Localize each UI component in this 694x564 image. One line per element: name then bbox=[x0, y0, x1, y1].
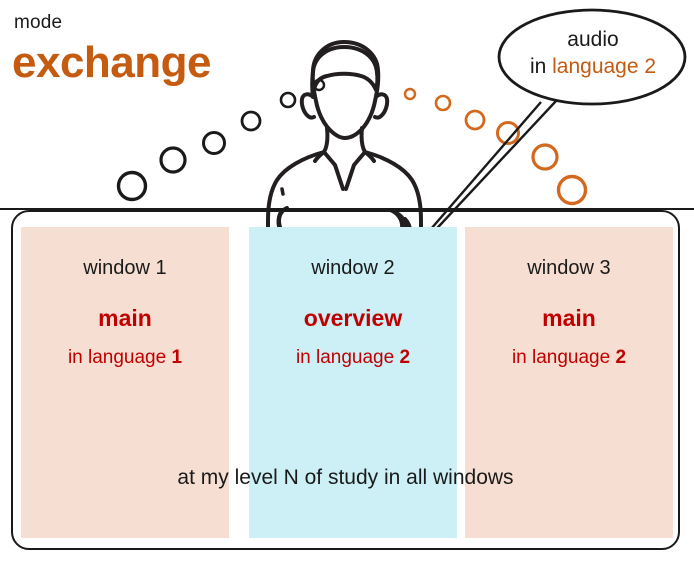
bubble-line-1: audio bbox=[503, 26, 683, 53]
window-3-language-number: 2 bbox=[615, 347, 626, 368]
black-circle-trail bbox=[119, 80, 325, 200]
window-2-language: in language 2 bbox=[249, 347, 457, 369]
diagram-canvas: mode exchange bbox=[0, 0, 694, 564]
window-panel-1[interactable]: window 1 main in language 1 bbox=[21, 227, 229, 538]
mode-label: mode bbox=[14, 12, 62, 34]
mode-value: exchange bbox=[12, 38, 211, 88]
window-2-language-prefix: in language bbox=[296, 347, 400, 368]
window-panel-3[interactable]: window 3 main in language 2 bbox=[465, 227, 673, 538]
window-1-language: in language 1 bbox=[21, 347, 229, 369]
window-1-kind: main bbox=[21, 305, 229, 332]
window-2-language-number: 2 bbox=[399, 347, 410, 368]
window-1-language-prefix: in language bbox=[68, 347, 172, 368]
orange-circle-trail bbox=[405, 89, 586, 204]
footer-note: at my level N of study in all windows bbox=[11, 466, 680, 490]
speech-bubble-text: audio in language 2 bbox=[503, 26, 683, 81]
bubble-line-2-prefix: in bbox=[530, 55, 552, 78]
window-3-title: window 3 bbox=[465, 257, 673, 280]
bubble-line-2: in language 2 bbox=[503, 53, 683, 80]
window-1-title: window 1 bbox=[21, 257, 229, 280]
window-1-language-number: 1 bbox=[171, 347, 182, 368]
window-2-kind: overview bbox=[249, 305, 457, 332]
window-3-language: in language 2 bbox=[465, 347, 673, 369]
window-3-language-prefix: in language bbox=[512, 347, 616, 368]
bubble-line-2-highlight: language 2 bbox=[552, 55, 656, 78]
window-3-kind: main bbox=[465, 305, 673, 332]
window-panel-2[interactable]: window 2 overview in language 2 bbox=[249, 227, 457, 538]
window-2-title: window 2 bbox=[249, 257, 457, 280]
